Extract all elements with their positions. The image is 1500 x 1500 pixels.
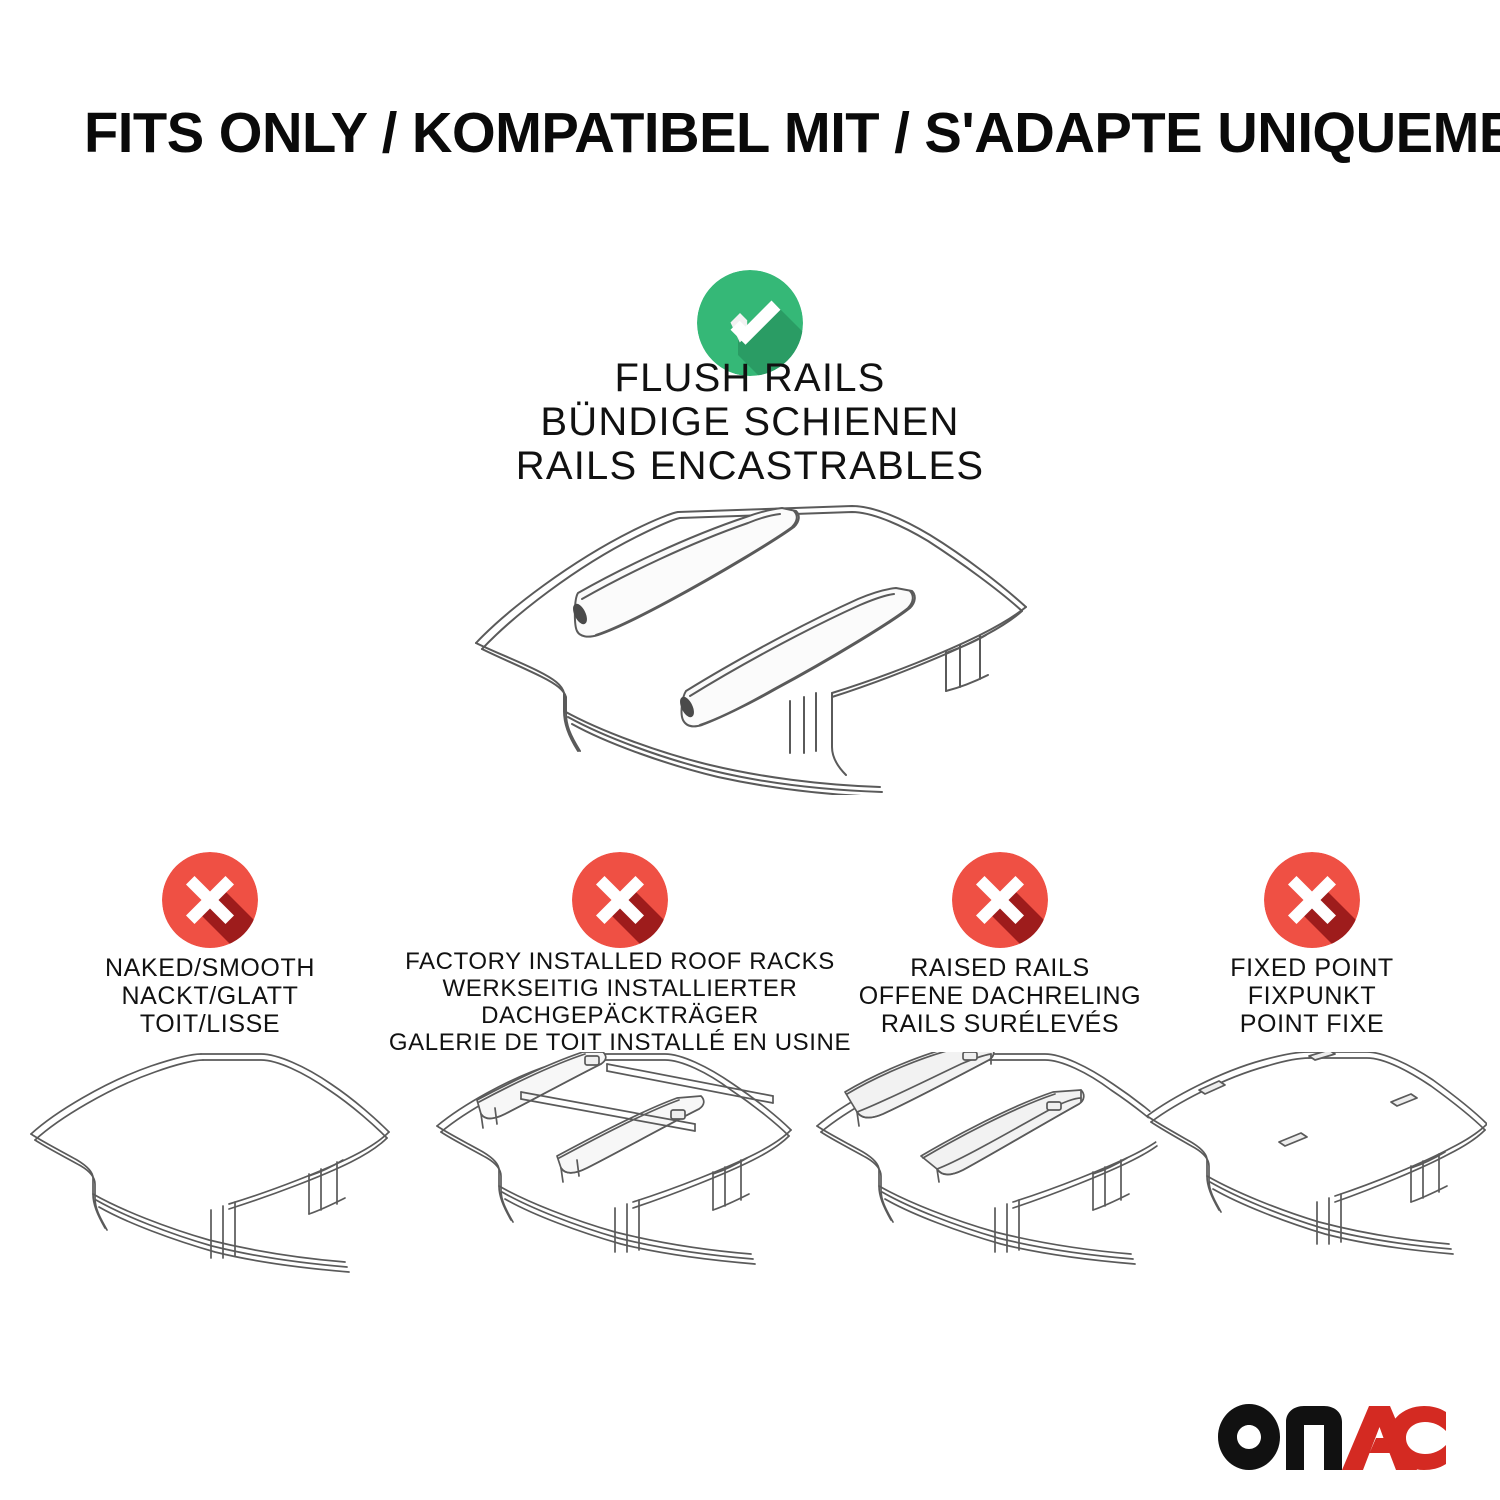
compatible-line-de: BÜNDIGE SCHIENEN <box>250 400 1250 444</box>
car-roof-with-fixed-points-illustration <box>1137 1052 1487 1282</box>
logo-letter-m <box>1286 1406 1342 1470</box>
logo-letter-o <box>1218 1404 1280 1470</box>
caption-line-de: NACKT/GLATT <box>10 982 410 1010</box>
compatible-caption: FLUSH RAILS BÜNDIGE SCHIENEN RAILS ENCAS… <box>250 356 1250 488</box>
omac-logo-mark <box>1218 1404 1446 1470</box>
cross-circle-icon <box>1264 852 1360 948</box>
cross-circle-glyph <box>162 852 258 948</box>
roof-factory-racks-drawing <box>425 1052 815 1282</box>
cross-circle-icon <box>162 852 258 948</box>
omac-logo <box>1218 1404 1446 1470</box>
compatible-line-en: FLUSH RAILS <box>250 356 1250 400</box>
car-roof-with-factory-crossbars-illustration <box>425 1052 815 1282</box>
infographic-page: FITS ONLY / KOMPATIBEL MIT / S'ADAPTE UN… <box>0 0 1500 1500</box>
caption-line-fr: TOIT/LISSE <box>10 1010 410 1038</box>
cross-circle-glyph <box>1264 852 1360 948</box>
compatible-line-fr: RAILS ENCASTRABLES <box>250 444 1250 488</box>
caption-line-de: FIXPUNKT <box>1112 982 1500 1010</box>
page-title: FITS ONLY / KOMPATIBEL MIT / S'ADAPTE UN… <box>84 104 1404 164</box>
roof-bare-drawing <box>25 1052 395 1282</box>
caption-line-en: FIXED POINT <box>1112 954 1500 982</box>
cross-circle-glyph <box>572 852 668 948</box>
car-roof-bare-illustration <box>25 1052 395 1282</box>
incompatible-caption: FIXED POINT FIXPUNKT POINT FIXE <box>1112 954 1500 1038</box>
cross-circle-glyph <box>952 852 1048 948</box>
car-roof-with-flush-rails-illustration <box>460 495 1040 795</box>
caption-line-fr: POINT FIXE <box>1112 1010 1500 1038</box>
cross-circle-icon <box>952 852 1048 948</box>
roof-flush-rails-drawing <box>460 495 1040 795</box>
cross-circle-icon <box>572 852 668 948</box>
caption-line-en: NAKED/SMOOTH <box>10 954 410 982</box>
incompatible-caption: NAKED/SMOOTH NACKT/GLATT TOIT/LISSE <box>10 954 410 1038</box>
roof-fixed-points-drawing <box>1137 1052 1487 1282</box>
